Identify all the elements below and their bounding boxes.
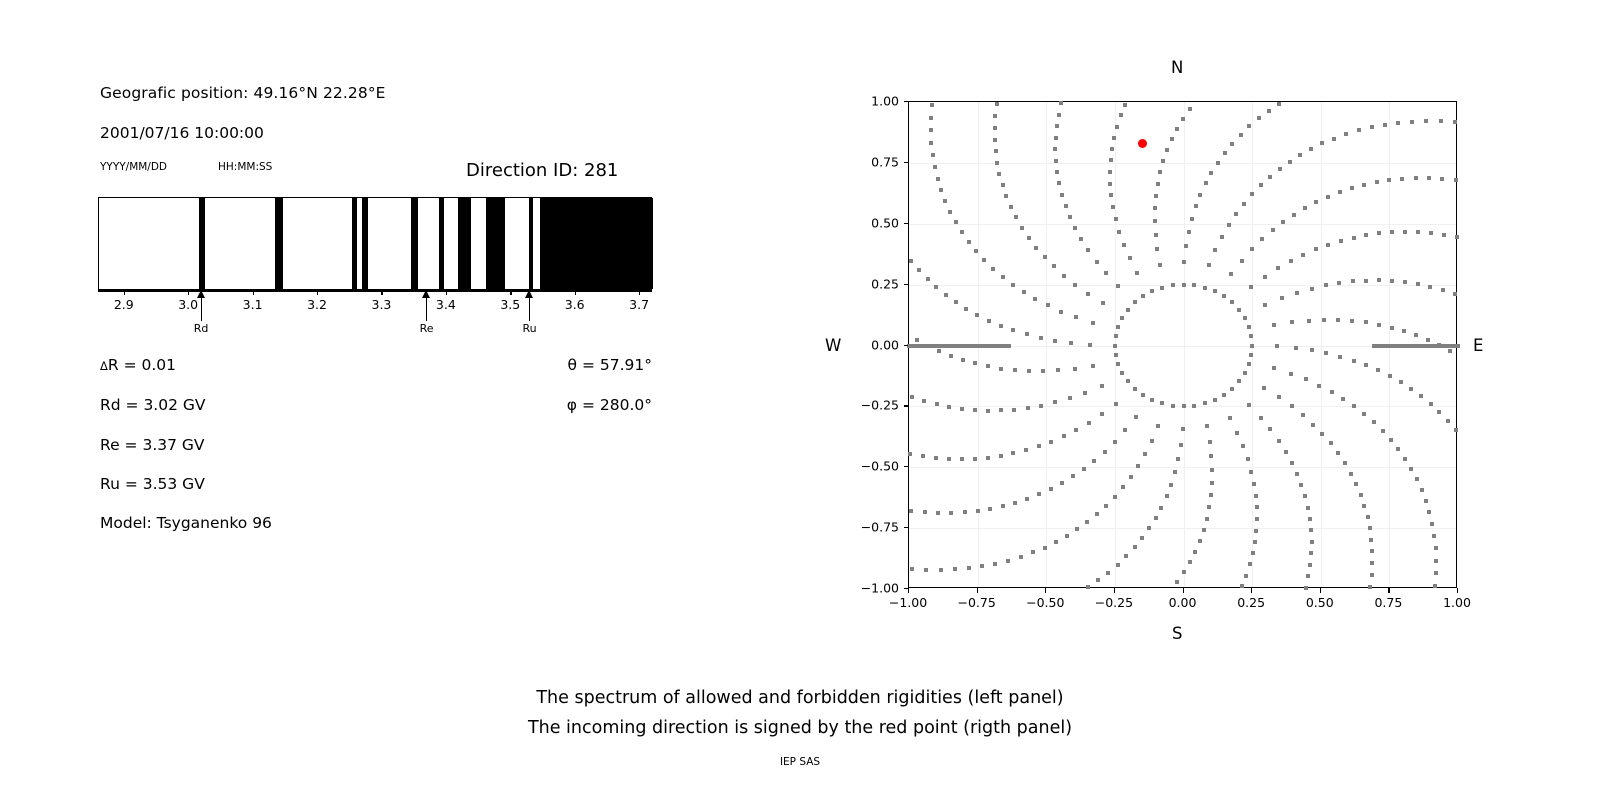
direction-dot (1004, 194, 1008, 198)
direction-dot (1310, 348, 1314, 352)
direction-dot (1271, 228, 1275, 232)
direction-dot (1096, 578, 1100, 582)
x-axis-tick (1457, 588, 1458, 593)
direction-dot (1249, 353, 1253, 357)
direction-dot (1362, 183, 1366, 187)
direction-dot (939, 188, 943, 192)
direction-dot (1100, 412, 1104, 416)
direction-dot (1370, 549, 1374, 553)
direction-dot (1339, 239, 1343, 243)
direction-dot (1222, 393, 1226, 397)
direction-dot (1278, 167, 1282, 171)
direction-dot (929, 141, 933, 145)
direction-dot (1338, 355, 1342, 359)
direction-dot (993, 562, 997, 566)
direction-dot (1299, 483, 1303, 487)
direction-dot (1175, 127, 1179, 131)
forbidden-band (529, 198, 534, 289)
direction-dot (1415, 477, 1419, 481)
y-axis-tick-label: −1.00 (846, 581, 899, 596)
direction-dot (1210, 481, 1214, 485)
direction-dot (1434, 546, 1438, 550)
direction-dot (1276, 266, 1280, 270)
direction-dot (1123, 103, 1127, 107)
y-axis-tick (904, 223, 909, 224)
direction-dot (1113, 440, 1117, 444)
direction-dot (1429, 402, 1433, 406)
direction-dot (1303, 206, 1307, 210)
direction-dot (947, 405, 951, 409)
direction-dot (910, 567, 914, 571)
direction-dot (1160, 401, 1164, 405)
direction-dot (1383, 123, 1387, 127)
direction-dot (1124, 554, 1128, 558)
y-axis-tick-label: 1.00 (846, 94, 899, 109)
direction-dot (1039, 404, 1043, 408)
direction-dot (1409, 467, 1413, 471)
direction-dot (1390, 279, 1394, 283)
caption-line-1: The spectrum of allowed and forbidden ri… (0, 688, 1600, 708)
direction-dot (1082, 467, 1086, 471)
direction-dot (1133, 300, 1137, 304)
direction-dot (999, 324, 1003, 328)
direction-dot (1037, 444, 1041, 448)
direction-dot (1154, 194, 1158, 198)
direction-dot (1268, 175, 1272, 179)
direction-dot (1243, 316, 1247, 320)
direction-dot (1087, 421, 1091, 425)
direction-dot (1073, 226, 1077, 230)
direction-dot (1396, 344, 1400, 348)
direction-dot (1123, 428, 1127, 432)
direction-dot (1026, 406, 1030, 410)
direction-dot (1388, 374, 1392, 378)
direction-dot (1156, 182, 1160, 186)
direction-dot (973, 457, 977, 461)
direction-dot (1344, 132, 1348, 136)
direction-dot (1280, 296, 1284, 300)
rigidity-axis-tick-label: 3.4 (436, 297, 456, 312)
gridline-horizontal (909, 528, 1456, 529)
direction-dot (986, 456, 990, 460)
direction-dot (1288, 160, 1292, 164)
direction-dot (1247, 124, 1251, 128)
rigidity-axis-tick (510, 290, 511, 295)
direction-dot (1260, 237, 1264, 241)
rigidity-axis-tick (317, 290, 318, 295)
direction-dot (944, 293, 948, 297)
direction-dot (975, 313, 979, 317)
direction-dot (909, 259, 913, 263)
direction-dot (1203, 401, 1207, 405)
direction-dot (1254, 494, 1258, 498)
direction-dot (1359, 493, 1363, 497)
direction-dot (1053, 339, 1057, 343)
direction-dot (1209, 171, 1213, 175)
direction-dot (1182, 283, 1186, 287)
direction-dot (1436, 344, 1440, 348)
direction-dot (1428, 285, 1432, 289)
direction-dot (1156, 424, 1160, 428)
direction-dot (1064, 204, 1068, 208)
direction-dot (1115, 125, 1119, 129)
direction-dot (929, 116, 933, 120)
date-format-hint: YYYY/MM/DD (100, 161, 167, 173)
direction-dot (1317, 384, 1321, 388)
direction-dot (1068, 396, 1072, 400)
direction-dot (1182, 570, 1186, 574)
direction-dot (1242, 202, 1246, 206)
direction-dot (1414, 176, 1418, 180)
direction-dot (1031, 550, 1035, 554)
direction-dot (1223, 151, 1227, 155)
direction-dot (1370, 573, 1374, 577)
direction-dot (917, 268, 921, 272)
direction-dot (1071, 474, 1075, 478)
forbidden-band (352, 198, 357, 289)
direction-dot (1110, 147, 1114, 151)
direction-dot (1075, 527, 1079, 531)
x-axis-tick (1045, 588, 1046, 593)
caption-line-2: The incoming direction is signed by the … (0, 718, 1600, 738)
direction-dot (1416, 282, 1420, 286)
direction-dot (1290, 461, 1294, 465)
direction-dot (1001, 275, 1005, 279)
direction-dot (1259, 183, 1263, 187)
y-axis-tick-label: 0.25 (846, 276, 899, 291)
direction-dot (1022, 290, 1026, 294)
direction-dot (1181, 117, 1185, 121)
direction-dot (1352, 236, 1356, 240)
rigidity-axis-tick-label: 3.1 (243, 297, 263, 312)
forbidden-band (411, 198, 417, 289)
direction-dot (993, 126, 997, 130)
direction-dot (1427, 176, 1431, 180)
direction-dot (1268, 427, 1272, 431)
direction-dot (1205, 424, 1209, 428)
direction-dot (1198, 193, 1202, 197)
direction-dot (1073, 283, 1077, 287)
direction-dot (1116, 362, 1120, 366)
direction-dot (1444, 344, 1448, 348)
direction-dot (1091, 364, 1095, 368)
direction-dot (1442, 233, 1446, 237)
direction-dot (1257, 116, 1261, 120)
direction-dot (1216, 161, 1220, 165)
direction-dot (1448, 349, 1452, 353)
direction-dot (967, 240, 971, 244)
direction-dot (1055, 170, 1059, 174)
direction-dot (1249, 334, 1253, 338)
y-axis-tick (904, 284, 909, 285)
direction-dot (1194, 204, 1198, 208)
direction-dot (1343, 461, 1347, 465)
direction-dot (1213, 398, 1217, 402)
direction-dot (999, 367, 1003, 371)
direction-dot (1329, 441, 1333, 445)
direction-dot (1013, 368, 1017, 372)
rigidity-marker-label-rd: Rd (194, 322, 209, 335)
direction-dot (1387, 178, 1391, 182)
direction-dot (1336, 451, 1340, 455)
direction-dot (993, 138, 997, 142)
direction-dot (1416, 344, 1420, 348)
direction-dot (1290, 404, 1294, 408)
direction-dot (1249, 285, 1253, 289)
direction-dot (1254, 529, 1258, 533)
direction-dot (1376, 344, 1380, 348)
datetime-label: 2001/07/16 10:00:00 (100, 124, 264, 142)
direction-dot (1046, 303, 1050, 307)
direction-dot (1024, 448, 1028, 452)
direction-dot (1009, 205, 1013, 209)
gridline-vertical (1321, 102, 1322, 587)
direction-dot (1126, 379, 1130, 383)
direction-dot (1165, 494, 1169, 498)
direction-dot (1424, 119, 1428, 123)
direction-dot (964, 307, 968, 311)
direction-dot (1427, 510, 1431, 514)
direction-dot (1114, 402, 1118, 406)
direction-dot (961, 358, 965, 362)
direction-dot (1108, 170, 1112, 174)
direction-dot (1307, 319, 1311, 323)
direction-dot (1380, 344, 1384, 348)
direction-dot (1113, 344, 1117, 348)
direction-dot (1205, 517, 1209, 521)
rigidity-spectrum-panel: Geografic position: 49.16°N 22.28°E 2001… (0, 0, 760, 800)
direction-dot (1375, 180, 1379, 184)
rigidity-spectrum-plot (98, 197, 652, 290)
direction-dot (1053, 400, 1057, 404)
direction-dot (1043, 546, 1047, 550)
direction-dot (1011, 451, 1015, 455)
direction-dot (1092, 459, 1096, 463)
direction-dot (1400, 177, 1404, 181)
direction-dot (1414, 333, 1418, 337)
direction-dot (1193, 550, 1197, 554)
direction-dot (1158, 263, 1162, 267)
direction-dot (993, 114, 997, 118)
direction-dot (1114, 217, 1118, 221)
direction-dot (1364, 320, 1368, 324)
x-axis-tick (908, 588, 909, 593)
time-format-hint: HH:MM:SS (218, 161, 272, 173)
direction-dot (1416, 230, 1420, 234)
direction-dot (1350, 319, 1354, 323)
direction-dot (1322, 318, 1326, 322)
direction-dot (986, 364, 990, 368)
direction-dot (1308, 563, 1312, 567)
forbidden-band (458, 198, 470, 289)
direction-dot (1121, 485, 1125, 489)
gridline-horizontal (909, 224, 1456, 225)
direction-dot (1169, 483, 1173, 487)
theta-value: θ = 57.91° (420, 356, 652, 374)
y-axis-tick-label: −0.25 (846, 398, 899, 413)
direction-dot (1179, 443, 1183, 447)
direction-dot (1112, 136, 1116, 140)
direction-dot (1419, 394, 1423, 398)
direction-dot (1204, 181, 1208, 185)
y-axis-tick (904, 162, 909, 163)
direction-dot (1184, 244, 1188, 248)
direction-dot (1263, 275, 1267, 279)
direction-dot (1377, 323, 1381, 327)
direction-dot (933, 165, 937, 169)
rigidity-axis-tick (446, 290, 447, 295)
delta-r-text: R = 0.01 (108, 356, 176, 374)
direction-dot (1352, 359, 1356, 363)
direction-dot (1354, 482, 1358, 486)
direction-dot (1338, 190, 1342, 194)
direction-dot (1247, 325, 1251, 329)
direction-dot (1213, 248, 1217, 252)
direction-dot (1001, 183, 1005, 187)
direction-dot (1150, 439, 1154, 443)
direction-dot (1248, 562, 1252, 566)
direction-dot (1244, 574, 1248, 578)
compass-north-label: N (1171, 58, 1183, 77)
direction-dot (1210, 468, 1214, 472)
re-value: Re = 3.37 GV (100, 436, 205, 454)
direction-dot (1247, 362, 1251, 366)
direction-dot (1433, 584, 1437, 588)
rigidity-marker-label-re: Re (420, 322, 434, 335)
direction-dot (1453, 120, 1457, 124)
direction-dot (1326, 243, 1330, 247)
direction-dot (1253, 540, 1257, 544)
direction-dot (1403, 457, 1407, 461)
direction-dot (1432, 534, 1436, 538)
y-axis-tick (904, 405, 909, 406)
direction-dot (1310, 287, 1314, 291)
direction-dot (967, 566, 971, 570)
direction-dot (1074, 428, 1078, 432)
direction-dot (1104, 271, 1108, 275)
direction-dot (1208, 440, 1212, 444)
direction-dot (1230, 142, 1234, 146)
direction-dot (1187, 230, 1191, 234)
direction-dot (935, 402, 939, 406)
direction-dot (1314, 200, 1318, 204)
direction-dot (980, 564, 984, 568)
direction-dot (1396, 447, 1400, 451)
direction-dot (1228, 416, 1232, 420)
gridline-horizontal (909, 467, 1456, 468)
direction-dot (1337, 281, 1341, 285)
direction-dot (1289, 259, 1293, 263)
direction-dot (948, 210, 952, 214)
direction-dot (1246, 457, 1250, 461)
direction-dot (1324, 283, 1328, 287)
direction-dot (1074, 315, 1078, 319)
direction-dot (1306, 506, 1310, 510)
forbidden-band (439, 198, 444, 289)
direction-dot (1085, 520, 1089, 524)
direction-dot (1409, 387, 1413, 391)
direction-dot (1235, 431, 1239, 435)
direction-dot (1454, 178, 1458, 182)
direction-dot (960, 457, 964, 461)
direction-dot (987, 319, 991, 323)
direction-dot (1295, 472, 1299, 476)
direction-dot (1372, 420, 1376, 424)
direction-dot (921, 454, 925, 458)
direction-dot (982, 258, 986, 262)
direction-dot (1034, 246, 1038, 250)
direction-dot (1113, 495, 1117, 499)
direction-dot (1220, 235, 1224, 239)
direction-dot (1304, 377, 1308, 381)
direction-dot (1059, 310, 1063, 314)
direction-dot (1241, 444, 1245, 448)
direction-dot (1153, 219, 1157, 223)
direction-dot (1289, 372, 1293, 376)
direction-dot (1440, 344, 1444, 348)
rigidity-axis-tick (639, 290, 640, 295)
direction-dot (1155, 247, 1159, 251)
compass-west-label: W (825, 336, 841, 355)
direction-dot (988, 507, 992, 511)
direction-dot (949, 354, 953, 358)
direction-dot (1052, 264, 1056, 268)
direction-dot (1101, 301, 1105, 305)
direction-dot (1060, 481, 1064, 485)
direction-dot (954, 300, 958, 304)
direction-dot (1429, 231, 1433, 235)
direction-dot (1181, 427, 1185, 431)
direction-dot (1377, 278, 1381, 282)
y-axis-tick (904, 466, 909, 467)
direction-dot (1252, 482, 1256, 486)
direction-dot (1120, 371, 1124, 375)
direction-dot (930, 103, 934, 107)
direction-dot (926, 277, 930, 281)
direction-dot (1126, 308, 1130, 312)
direction-dot (1043, 255, 1047, 259)
y-axis-tick (904, 345, 909, 346)
direction-dot (1428, 344, 1432, 348)
forbidden-band (199, 198, 205, 289)
direction-dot (973, 408, 977, 412)
forbidden-band (275, 198, 283, 289)
direction-dot (1062, 434, 1066, 438)
direction-dot (1147, 526, 1151, 530)
direction-dot (1230, 387, 1234, 391)
direction-dot (1209, 493, 1213, 497)
direction-dot (960, 407, 964, 411)
y-axis-tick (904, 527, 909, 528)
direction-dot (1456, 344, 1460, 348)
direction-dot (953, 567, 957, 571)
direction-dot (1326, 195, 1330, 199)
y-axis-tick (904, 588, 909, 589)
x-axis-tick (1388, 588, 1389, 593)
direction-dot (1122, 243, 1126, 247)
direction-dot (1404, 344, 1408, 348)
direction-dot (1284, 450, 1288, 454)
direction-dot (1175, 580, 1179, 584)
direction-dot (1154, 233, 1158, 237)
direction-dot (1041, 369, 1045, 373)
direction-dot (1083, 391, 1087, 395)
direction-dot (1439, 119, 1443, 123)
direction-dot (1059, 101, 1063, 105)
rigidity-axis-tick-label: 2.9 (114, 297, 134, 312)
rigidity-axis-tick (124, 290, 125, 295)
direction-dot (1227, 223, 1231, 227)
